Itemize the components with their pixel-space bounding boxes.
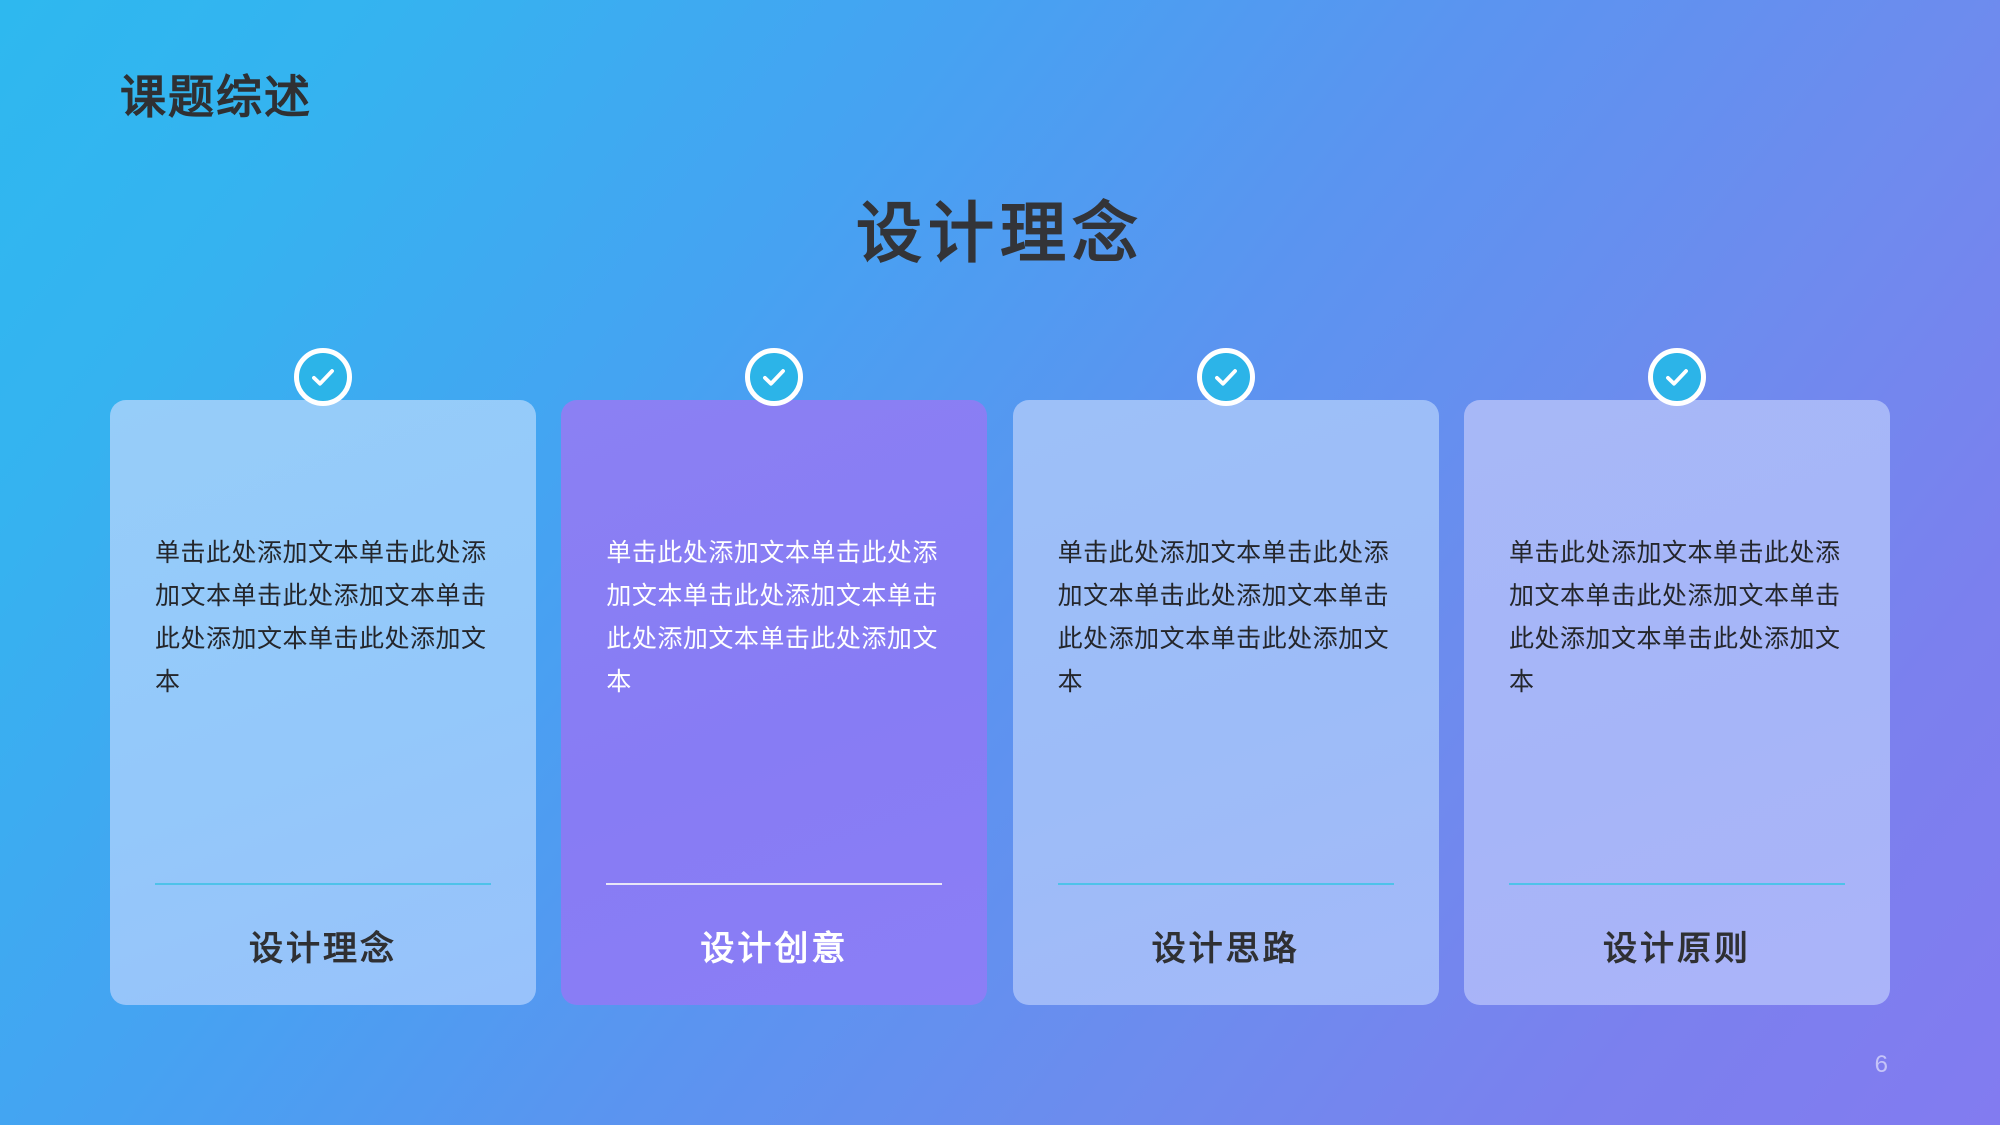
card-title: 设计创意 [606,885,942,1005]
content-card[interactable]: 单击此处添加文本单击此处添加文本单击此处添加文本单击此处添加文本单击此处添加文本… [1013,400,1439,1005]
card-body-text: 单击此处添加文本单击此处添加文本单击此处添加文本单击此处添加文本单击此处添加文本 [606,532,942,704]
check-circle-icon [1197,348,1255,406]
card-body-text: 单击此处添加文本单击此处添加文本单击此处添加文本单击此处添加文本单击此处添加文本 [1509,532,1845,704]
card-group: 单击此处添加文本单击此处添加文本单击此处添加文本单击此处添加文本单击此处添加文本… [110,400,1890,1005]
check-circle-icon [745,348,803,406]
card-body-text: 单击此处添加文本单击此处添加文本单击此处添加文本单击此处添加文本单击此处添加文本 [155,532,491,704]
card-body-text: 单击此处添加文本单击此处添加文本单击此处添加文本单击此处添加文本单击此处添加文本 [1058,532,1394,704]
page-title: 设计理念 [0,200,2000,266]
card-title: 设计思路 [1058,885,1394,1005]
page-number: 6 [1875,1053,1888,1077]
check-circle-icon [294,348,352,406]
card-title: 设计原则 [1509,885,1845,1005]
content-card[interactable]: 单击此处添加文本单击此处添加文本单击此处添加文本单击此处添加文本单击此处添加文本… [561,400,987,1005]
content-card[interactable]: 单击此处添加文本单击此处添加文本单击此处添加文本单击此处添加文本单击此处添加文本… [110,400,536,1005]
check-circle-icon [1648,348,1706,406]
content-card[interactable]: 单击此处添加文本单击此处添加文本单击此处添加文本单击此处添加文本单击此处添加文本… [1464,400,1890,1005]
card-title: 设计理念 [155,885,491,1005]
section-header-title: 课题综述 [120,72,312,123]
presentation-slide: 课题综述 设计理念 单击此处添加文本单击此处添加文本单击此处添加文本单击此处添加… [0,0,2000,1125]
